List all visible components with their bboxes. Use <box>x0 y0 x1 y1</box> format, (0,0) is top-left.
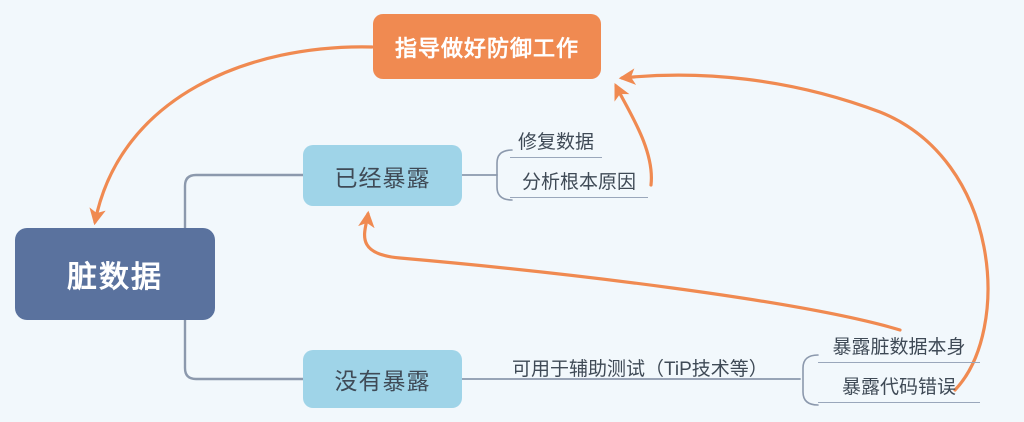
leaf-expose-dirty-data-itself[interactable]: 暴露脏数据本身 <box>818 332 980 363</box>
node-root-dirty-data[interactable]: 脏数据 <box>15 228 215 320</box>
node-already-exposed[interactable]: 已经暴露 <box>303 145 462 206</box>
leaf-analyze-root-cause[interactable]: 分析根本原因 <box>510 167 648 198</box>
node-already-exposed-label: 已经暴露 <box>335 159 431 193</box>
leaf-repair-data[interactable]: 修复数据 <box>510 127 602 158</box>
leaf-expose-code-error[interactable]: 暴露代码错误 <box>818 372 980 403</box>
node-guidance[interactable]: 指导做好防御工作 <box>373 14 601 79</box>
mindmap-canvas: 指导做好防御工作 脏数据 已经暴露 没有暴露 修复数据 分析根本原因 可用于辅助… <box>0 0 1024 422</box>
node-root-label: 脏数据 <box>67 252 163 296</box>
node-not-exposed-label: 没有暴露 <box>335 362 431 396</box>
connector-notexposed-bracket <box>803 355 818 405</box>
arrow-exposure-to-exposed <box>365 214 900 330</box>
node-not-exposed[interactable]: 没有暴露 <box>303 350 462 408</box>
edge-label-assist-testing: 可用于辅助测试（TiP技术等） <box>512 354 768 384</box>
node-guidance-label: 指导做好防御工作 <box>395 31 579 63</box>
